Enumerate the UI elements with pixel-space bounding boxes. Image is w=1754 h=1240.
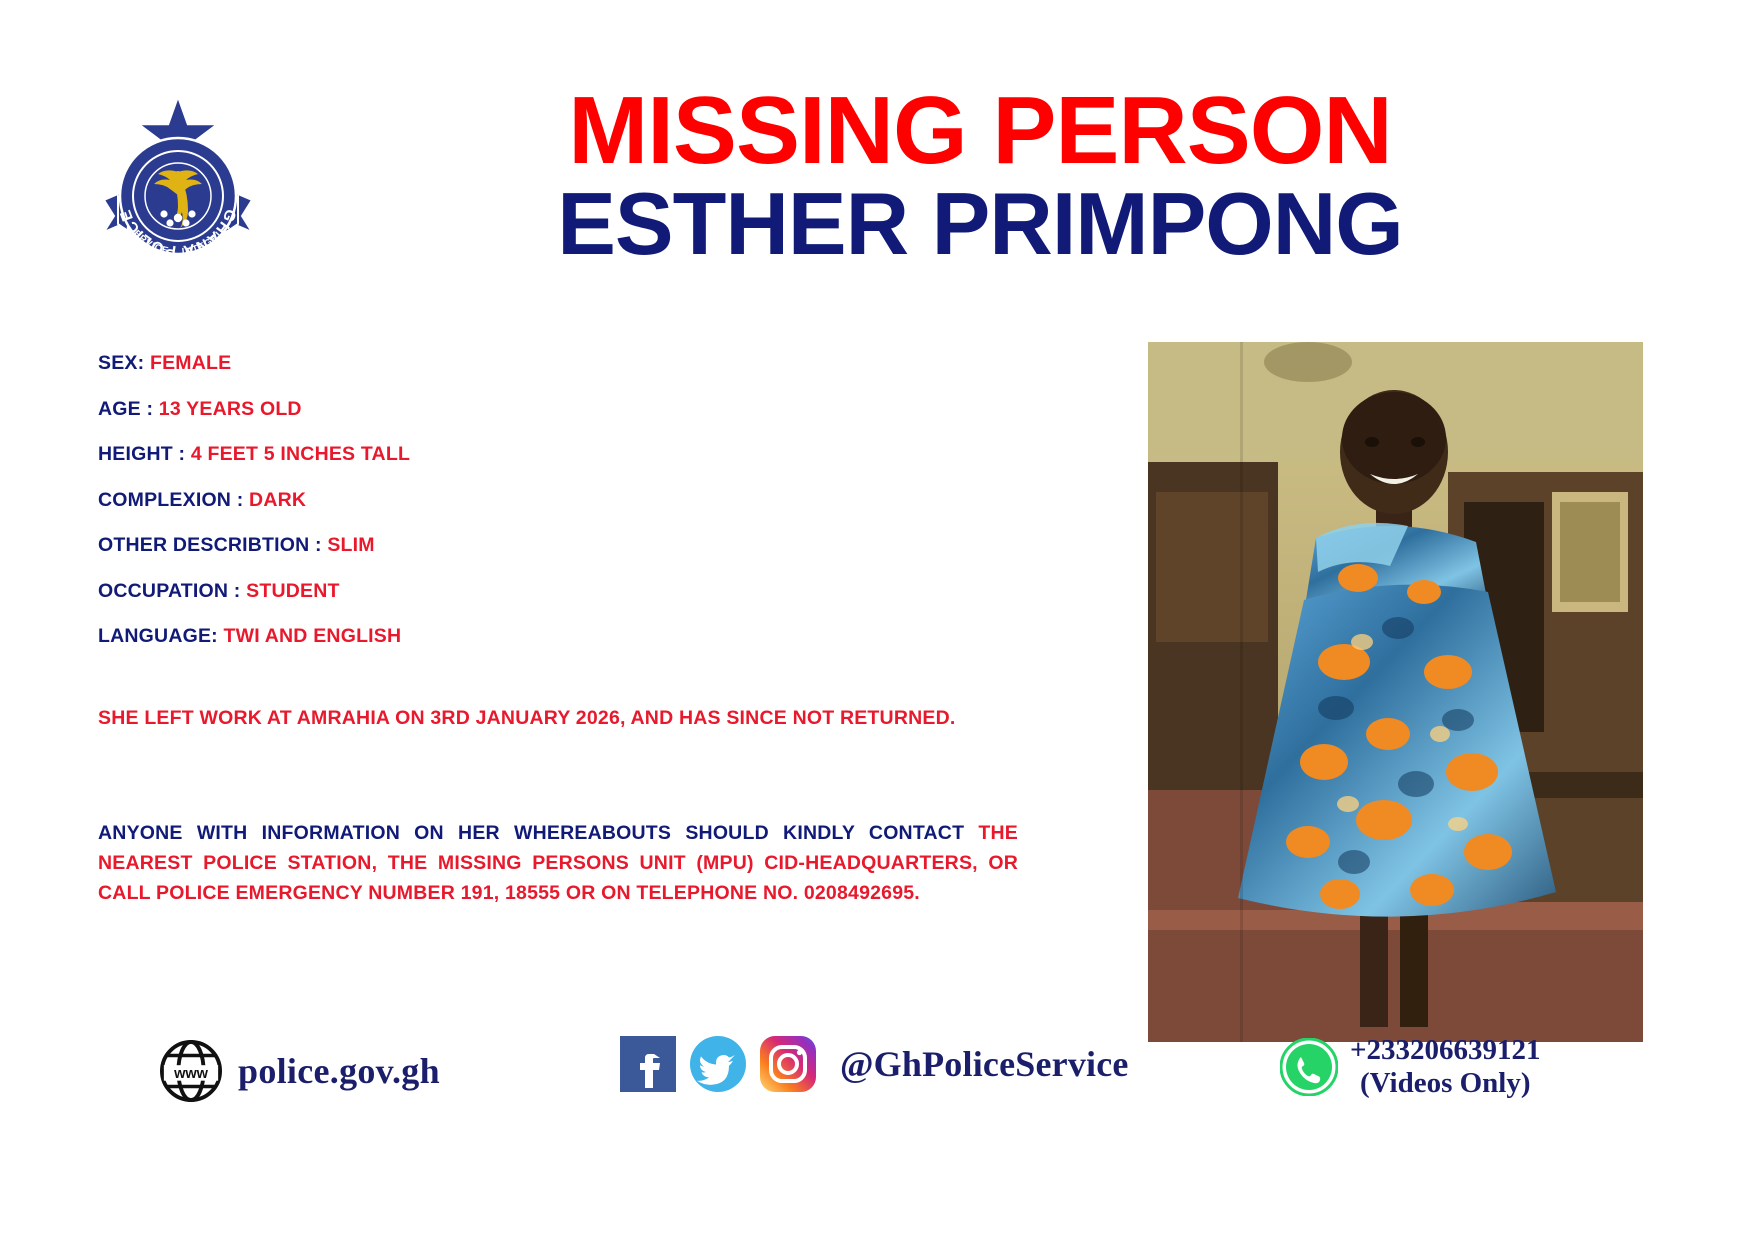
person-name: ESTHER PRIMPONG <box>330 179 1630 269</box>
instagram-icon[interactable] <box>760 1036 816 1092</box>
detail-value: SLIM <box>327 534 374 556</box>
detail-value: STUDENT <box>246 580 339 602</box>
detail-label: AGE : <box>98 398 153 420</box>
svg-text:WITH: WITH <box>164 265 192 276</box>
detail-row-language: LANGUAGE: TWI AND ENGLISH <box>98 625 978 648</box>
detail-value: TWI AND ENGLISH <box>224 625 402 647</box>
detail-label: OCCUPATION : <box>98 580 241 602</box>
detail-row-age: AGE : 13 YEARS OLD <box>98 398 978 421</box>
poster-titles: MISSING PERSON ESTHER PRIMPONG <box>330 85 1630 269</box>
detail-label: LANGUAGE: <box>98 625 218 647</box>
poster-header: GHANA POLICE SERVICE INTEGRITY WITH <box>0 0 1754 300</box>
detail-row-occupation: OCCUPATION : STUDENT <box>98 580 978 603</box>
twitter-icon[interactable] <box>690 1036 746 1092</box>
detail-row-height: HEIGHT : 4 FEET 5 INCHES TALL <box>98 443 978 466</box>
contact-paragraph: ANYONE WITH INFORMATION ON HER WHEREABOU… <box>98 818 1018 908</box>
circumstance-paragraph: SHE LEFT WORK AT AMRAHIA ON 3RD JANUARY … <box>98 703 1018 733</box>
detail-label: HEIGHT : <box>98 443 185 465</box>
facebook-icon[interactable] <box>620 1036 676 1092</box>
whatsapp-text-block: +233206639121 (Videos Only) <box>1350 1034 1541 1100</box>
whatsapp-note: (Videos Only) <box>1350 1067 1541 1100</box>
missing-person-photo <box>1148 342 1643 1042</box>
detail-label: COMPLEXION : <box>98 489 243 511</box>
detail-value: 4 FEET 5 INCHES TALL <box>191 443 410 465</box>
social-group[interactable]: @GhPoliceService <box>620 1036 1129 1092</box>
detail-label: SEX: <box>98 352 144 374</box>
detail-label: OTHER DESCRIBTION : <box>98 534 322 556</box>
website-group[interactable]: www police.gov.gh <box>160 1040 440 1102</box>
whatsapp-group[interactable]: +233206639121 (Videos Only) <box>1280 1034 1541 1100</box>
contact-lead-text: ANYONE WITH INFORMATION ON HER WHEREABOU… <box>98 822 978 844</box>
whatsapp-number[interactable]: +233206639121 <box>1350 1034 1541 1067</box>
page-title: MISSING PERSON <box>330 85 1630 177</box>
whatsapp-icon[interactable] <box>1280 1038 1338 1096</box>
poster-footer: www police.gov.gh <box>0 1030 1754 1140</box>
missing-person-poster: GHANA POLICE SERVICE INTEGRITY WITH <box>0 0 1754 1240</box>
svg-text:www: www <box>173 1066 209 1082</box>
person-details-list: SEX: FEMALE AGE : 13 YEARS OLD HEIGHT : … <box>98 352 978 671</box>
website-url[interactable]: police.gov.gh <box>238 1050 440 1092</box>
detail-value: DARK <box>249 489 306 511</box>
social-handle[interactable]: @GhPoliceService <box>840 1043 1129 1085</box>
detail-row-sex: SEX: FEMALE <box>98 352 978 375</box>
detail-value: FEMALE <box>150 352 231 374</box>
www-globe-icon: www <box>160 1040 222 1102</box>
detail-row-other-description: OTHER DESCRIBTION : SLIM <box>98 534 978 557</box>
detail-row-complexion: COMPLEXION : DARK <box>98 489 978 512</box>
detail-value: 13 YEARS OLD <box>159 398 302 420</box>
ghana-police-badge-icon: GHANA POLICE SERVICE INTEGRITY WITH <box>98 92 258 277</box>
